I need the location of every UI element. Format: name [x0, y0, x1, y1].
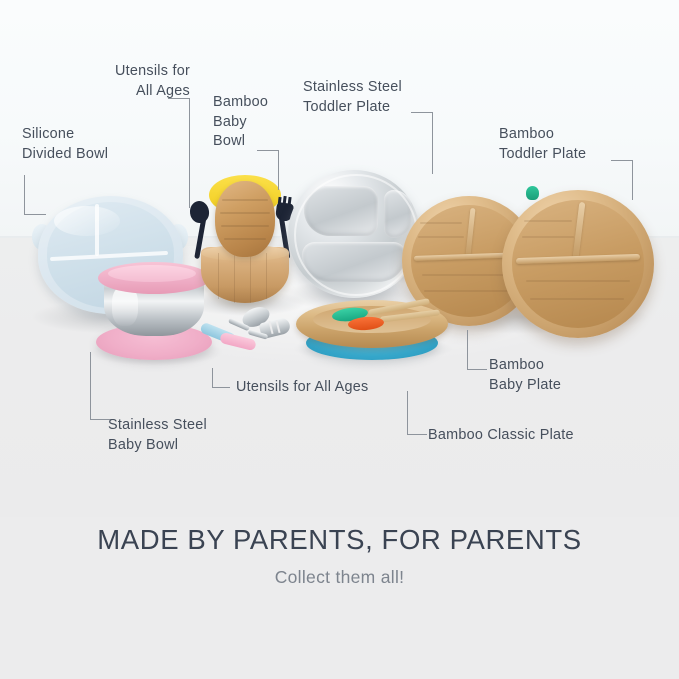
leader-line-stainless-baby-bowl: [90, 352, 114, 422]
bamboo-lid-grain-4: [224, 238, 266, 240]
bamboo-bowl-stave-2: [234, 255, 235, 303]
bamboo-baby-plate-grain-1: [420, 222, 462, 224]
leader-segment-vertical: [90, 352, 91, 420]
leader-segment-vertical: [407, 391, 408, 435]
label-utensils-for-all-ages-top: Utensils for All Ages: [12, 62, 190, 101]
steel-baby-bowl-lid-top: [108, 265, 196, 282]
leader-segment-vertical: [632, 160, 633, 200]
footer-headline: MADE BY PARENTS, FOR PARENTS: [0, 524, 679, 556]
leader-line-bamboo-classic-plate: [407, 391, 429, 437]
leader-segment-horizontal: [212, 387, 230, 388]
bamboo-baby-plate-grain-4: [424, 290, 510, 292]
bamboo-toddler-plate-grain-4: [530, 298, 624, 300]
leader-segment-vertical: [212, 368, 213, 388]
label-silicone-divided-bowl: Silicone Divided Bowl: [22, 125, 108, 164]
bamboo-toddler-plate-grain-1: [524, 220, 572, 222]
leader-line-utensils-top: [168, 98, 192, 210]
bamboo-bowl-stave-3: [250, 255, 251, 303]
leader-line-silicone-divided-bowl: [24, 175, 48, 217]
leader-segment-horizontal: [611, 160, 633, 161]
leader-line-utensils-bottom: [212, 368, 232, 390]
leader-line-bamboo-baby-plate: [467, 330, 489, 372]
bamboo-toddler-plate-green-suction-tab: [526, 186, 539, 200]
product-utensils-for-all-ages: [198, 302, 302, 360]
label-bamboo-toddler-plate: Bamboo Toddler Plate: [499, 125, 586, 164]
product-bamboo-toddler-plate: [502, 190, 654, 338]
bamboo-baby-bowl-lid: [215, 181, 275, 257]
leader-segment-vertical: [467, 330, 468, 370]
bamboo-toddler-plate-grain-3: [526, 280, 630, 282]
footer-subline: Collect them all!: [0, 567, 679, 588]
product-bamboo-classic-plate: [296, 300, 448, 362]
infographic-canvas: Silicone Divided Bowl Utensils for All A…: [0, 0, 679, 679]
label-bamboo-classic-plate: Bamboo Classic Plate: [428, 426, 574, 446]
bamboo-baby-plate-grain-3: [422, 274, 514, 276]
label-bamboo-baby-bowl: Bamboo Baby Bowl: [213, 93, 268, 152]
leader-segment-horizontal: [24, 214, 46, 215]
label-stainless-steel-toddler-plate: Stainless Steel Toddler Plate: [303, 78, 402, 117]
bamboo-baby-plate-grain-2: [418, 236, 464, 238]
leader-segment-vertical: [278, 150, 279, 190]
product-bamboo-baby-bowl: [196, 175, 294, 310]
bamboo-bowl-stave-1: [218, 253, 219, 299]
leader-line-bamboo-baby-bowl: [257, 150, 281, 192]
silicone-bowl-highlight: [54, 206, 120, 236]
leader-segment-horizontal: [411, 112, 433, 113]
bamboo-toddler-plate-grain-2: [522, 236, 574, 238]
bamboo-bowl-stave-4: [266, 253, 267, 299]
leader-segment-horizontal: [407, 434, 427, 435]
bamboo-lid-grain-1: [222, 199, 268, 201]
leader-segment-vertical: [189, 98, 190, 208]
label-stainless-steel-baby-bowl: Stainless Steel Baby Bowl: [108, 416, 207, 455]
label-bamboo-baby-plate: Bamboo Baby Plate: [489, 356, 561, 395]
leader-segment-horizontal: [467, 369, 487, 370]
leader-segment-vertical: [432, 112, 433, 174]
label-utensils-for-all-ages-bottom: Utensils for All Ages: [236, 378, 368, 398]
leader-segment-vertical: [24, 175, 25, 215]
product-stainless-steel-toddler-plate: [288, 170, 420, 302]
steel-plate-rim-highlight: [294, 174, 418, 296]
leader-line-bamboo-toddler-plate: [611, 160, 635, 202]
bamboo-lid-grain-3: [221, 225, 269, 227]
bamboo-lid-grain-2: [220, 212, 270, 214]
leader-line-stainless-toddler-plate: [411, 112, 435, 176]
product-stainless-steel-baby-bowl: [96, 262, 212, 362]
